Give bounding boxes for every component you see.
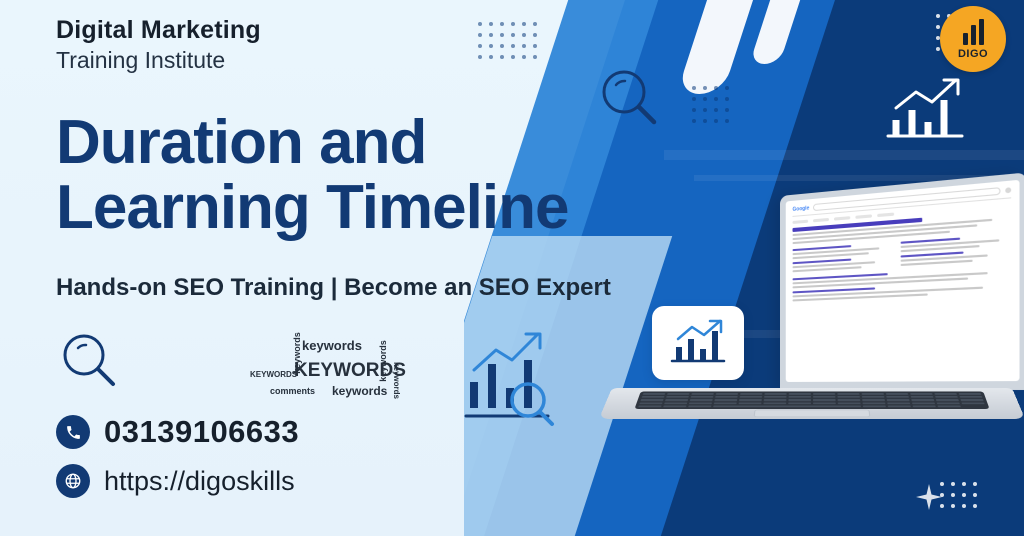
page-title: Duration and Learning Timeline [56, 110, 568, 240]
keyword-item: KEYWORDS [250, 370, 297, 379]
dot-grid [940, 482, 977, 508]
laptop-screen: Google [786, 180, 1020, 382]
keyword-item: comments [270, 386, 315, 396]
digo-logo[interactable]: DIGO [940, 6, 1006, 72]
laptop-base [599, 388, 1024, 419]
headline-line-1: Duration and [56, 108, 426, 177]
laptop-keyboard [634, 391, 989, 409]
website-url: https://digoskills [104, 466, 295, 497]
subheadline: Hands-on SEO Training | Become an SEO Ex… [56, 274, 611, 302]
globe-icon [56, 464, 90, 498]
brand-line-1: Digital Marketing [56, 16, 261, 45]
laptop-trackpad [754, 410, 871, 417]
serp-column [793, 242, 893, 274]
phone-number: 03139106633 [104, 414, 299, 450]
headline-line-2: Learning Timeline [56, 175, 568, 240]
google-logo: Google [793, 205, 810, 213]
brand-line-2: Training Institute [56, 47, 261, 74]
bar-chart-search-icon [452, 330, 582, 430]
contact-website[interactable]: https://digoskills [56, 464, 295, 498]
faint-band [664, 150, 1024, 160]
keyword-item: keywords [332, 384, 387, 398]
sparkle-icon [916, 484, 942, 510]
brand-block: Digital Marketing Training Institute [56, 16, 261, 74]
keyword-item: KEYWORDS [294, 360, 406, 382]
keyword-cloud: keywords keywords keywords KEYWORDS KEYW… [250, 330, 420, 420]
serp-column [901, 234, 1012, 268]
bar-chart-growth-icon [882, 74, 968, 148]
logo-bars-icon [963, 19, 984, 45]
search-bubble-icon [596, 66, 662, 132]
magnifier-icon [58, 330, 120, 392]
serp-page: Google [786, 180, 1020, 309]
laptop-mockup: Google [612, 196, 1012, 456]
avatar [1005, 187, 1011, 193]
logo-text: DIGO [958, 48, 988, 60]
dot-grid [692, 86, 729, 123]
contact-phone[interactable]: 03139106633 [56, 414, 299, 450]
keyword-item: keywords [392, 362, 401, 399]
seo-course-banner: DIGO Digital Marketing Training Institut… [0, 0, 1024, 536]
phone-icon [56, 415, 90, 449]
laptop-lid: Google [780, 172, 1024, 390]
keyword-item: keywords [302, 338, 362, 353]
dot-grid [478, 22, 537, 59]
